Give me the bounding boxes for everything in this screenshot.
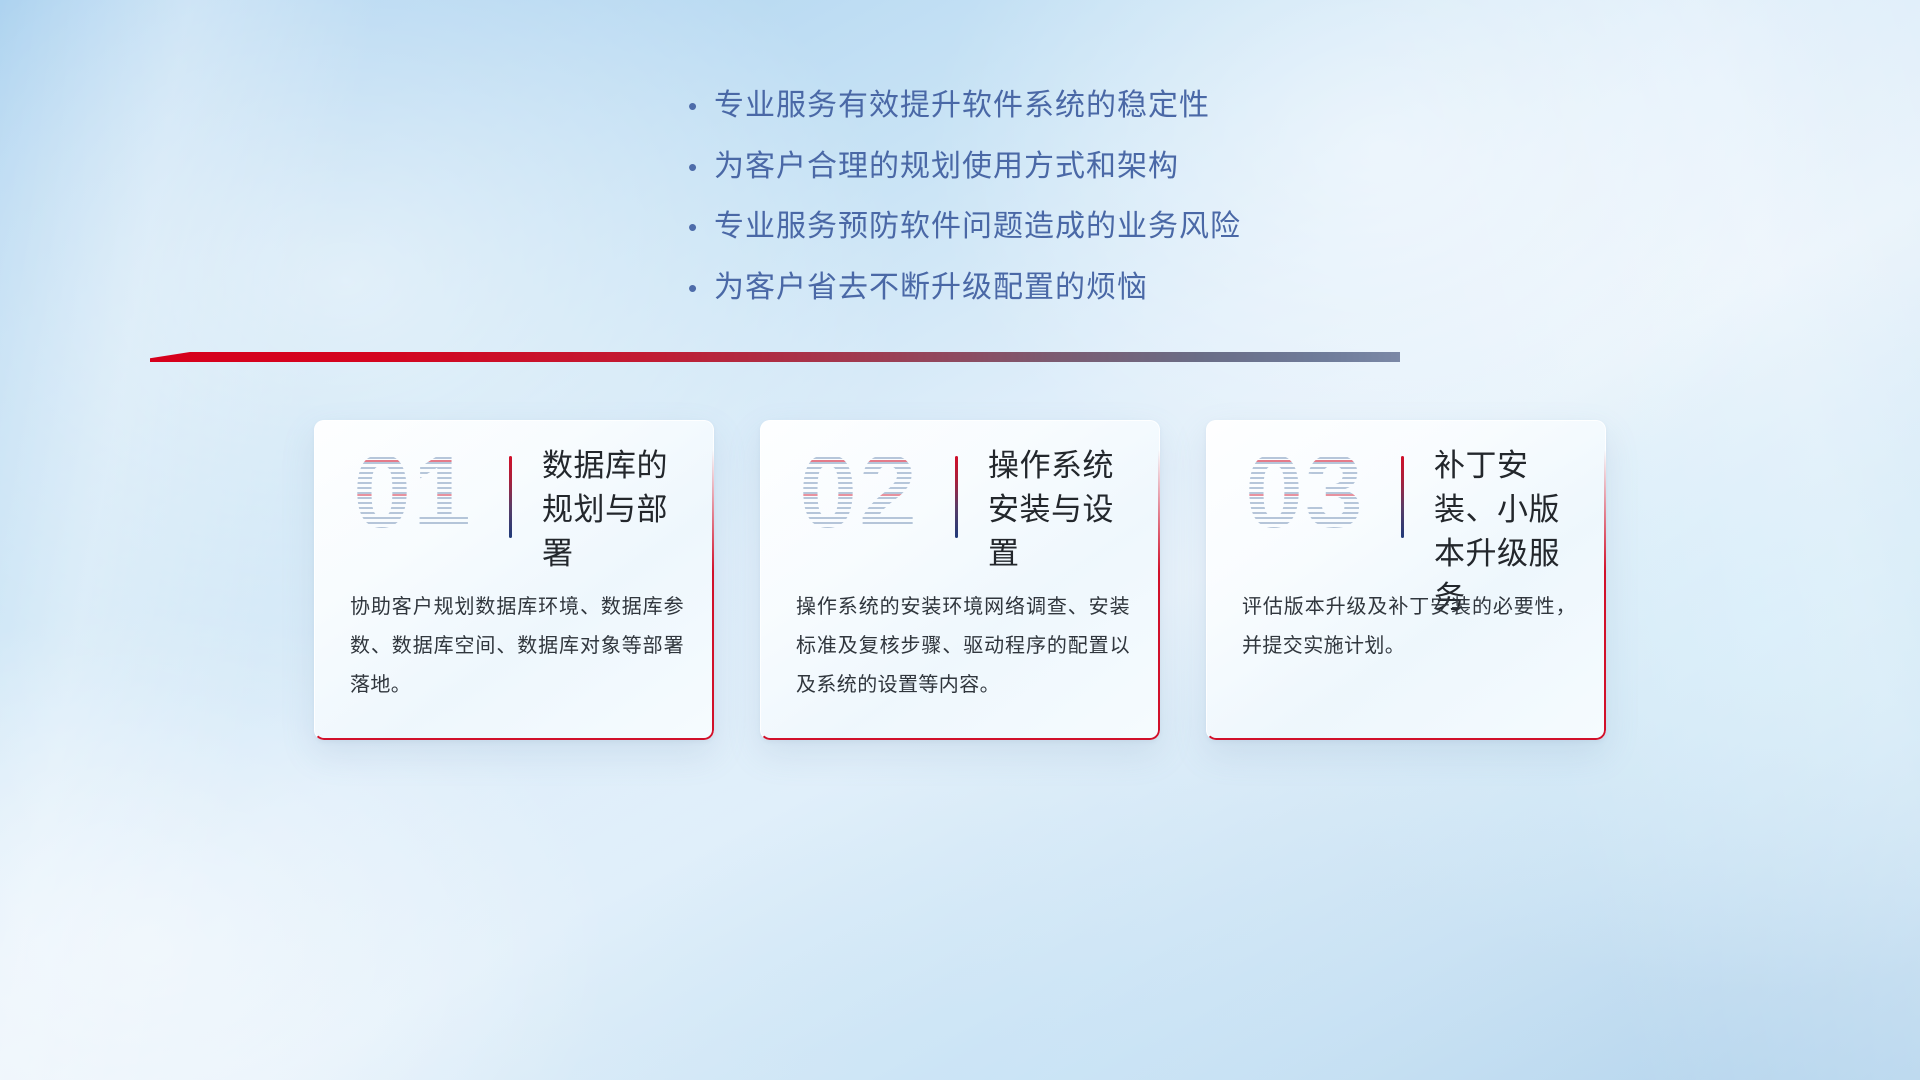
bullet-marker-icon: • <box>680 275 714 301</box>
title-accent-rule <box>955 456 958 538</box>
card-header: 01 01 数据库的规划与部署 <box>314 420 714 572</box>
bullet-text: 专业服务预防软件问题造成的业务风险 <box>714 207 1241 248</box>
card-title: 操作系统安装与设置 <box>988 444 1138 576</box>
title-accent-rule <box>1401 456 1404 538</box>
bullet-text: 专业服务有效提升软件系统的稳定性 <box>714 86 1210 127</box>
benefits-bullet-list: • 专业服务有效提升软件系统的稳定性 • 为客户合理的规划使用方式和架构 • 专… <box>0 86 1920 328</box>
card-title: 数据库的规划与部署 <box>542 444 692 576</box>
list-item: • 为客户合理的规划使用方式和架构 <box>680 147 1240 188</box>
card-number-watermark-accent: 01 <box>338 432 488 552</box>
slide-canvas: • 专业服务有效提升软件系统的稳定性 • 为客户合理的规划使用方式和架构 • 专… <box>0 0 1920 1080</box>
bullet-text: 为客户合理的规划使用方式和架构 <box>714 147 1179 188</box>
card-header: 02 02 操作系统安装与设置 <box>760 420 1160 572</box>
bullet-marker-icon: • <box>680 214 714 240</box>
divider-bar <box>150 352 1400 362</box>
card-number-watermark-accent: 03 <box>1230 432 1380 552</box>
list-item: • 专业服务预防软件问题造成的业务风险 <box>680 207 1240 248</box>
list-item: • 为客户省去不断升级配置的烦恼 <box>680 268 1240 309</box>
card-header: 03 03 补丁安装、小版本升级服务 <box>1206 420 1606 572</box>
service-card-group: 01 01 数据库的规划与部署 协助客户规划数据库环境、数据库参数、数据库空间、… <box>0 420 1920 740</box>
title-accent-rule <box>509 456 512 538</box>
card-body-text: 评估版本升级及补丁安装的必要性，并提交实施计划。 <box>1242 588 1576 666</box>
bullet-marker-icon: • <box>680 154 714 180</box>
service-card[interactable]: 02 02 操作系统安装与设置 操作系统的安装环境网络调查、安装标准及复核步骤、… <box>760 420 1160 740</box>
bullet-marker-icon: • <box>680 93 714 119</box>
card-body-text: 操作系统的安装环境网络调查、安装标准及复核步骤、驱动程序的配置以及系统的设置等内… <box>796 588 1130 705</box>
list-item: • 专业服务有效提升软件系统的稳定性 <box>680 86 1240 127</box>
section-divider <box>150 352 1400 364</box>
card-number-watermark-accent: 02 <box>784 432 934 552</box>
service-card[interactable]: 01 01 数据库的规划与部署 协助客户规划数据库环境、数据库参数、数据库空间、… <box>314 420 714 740</box>
bullet-text: 为客户省去不断升级配置的烦恼 <box>714 268 1148 309</box>
card-body-text: 协助客户规划数据库环境、数据库参数、数据库空间、数据库对象等部署落地。 <box>350 588 684 705</box>
service-card[interactable]: 03 03 补丁安装、小版本升级服务 评估版本升级及补丁安装的必要性，并提交实施… <box>1206 420 1606 740</box>
